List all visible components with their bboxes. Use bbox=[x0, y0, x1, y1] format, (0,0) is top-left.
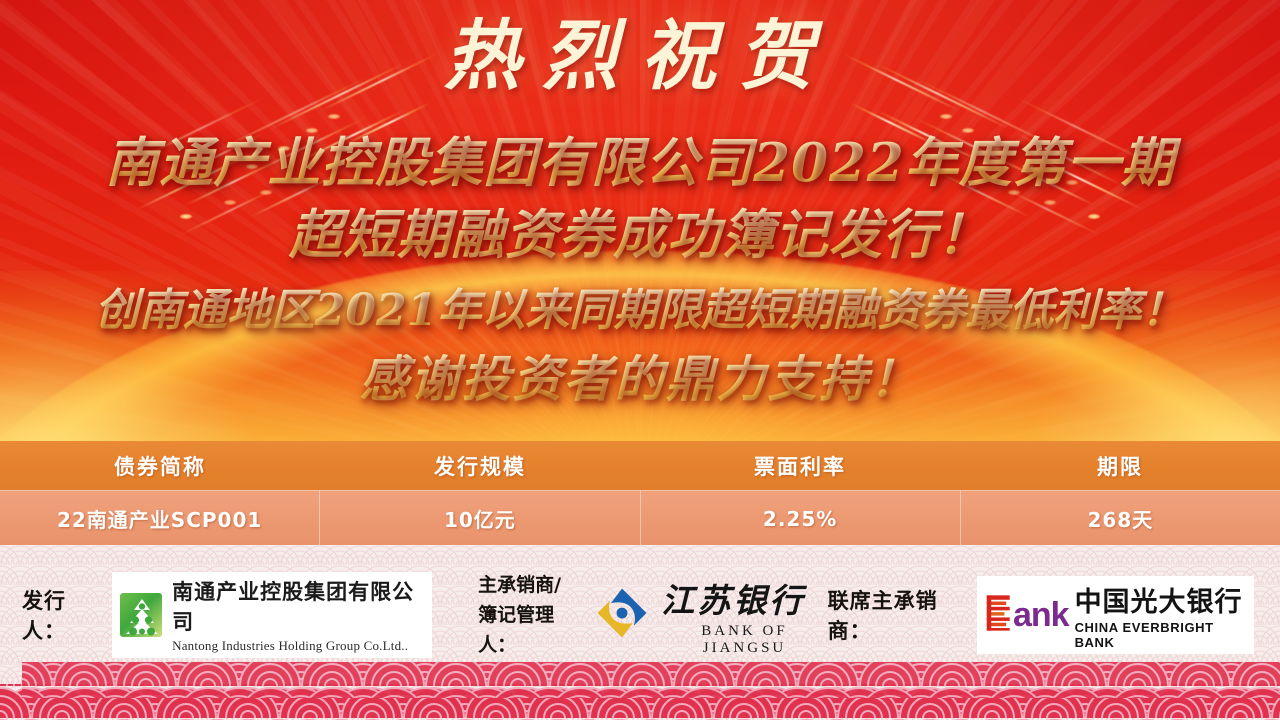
footer-bar: 发行人： bbox=[0, 545, 1280, 720]
table-header-bond-name: 债券简称 bbox=[0, 441, 320, 490]
red-wave-pattern bbox=[0, 654, 1280, 720]
table-header-issue-size: 发行规模 bbox=[320, 441, 640, 490]
issuer-block: 发行人： bbox=[22, 572, 432, 658]
poster-headline: 热烈祝贺 bbox=[0, 16, 1280, 97]
headline-line-1: 南通产业控股集团有限公司2022年度第一期 bbox=[0, 132, 1280, 194]
table-cell-bond-name: 22南通产业SCP001 bbox=[0, 491, 319, 546]
headline-line-4: 感谢投资者的鼎力支持！ bbox=[0, 350, 1280, 408]
issuer-label: 发行人： bbox=[22, 585, 106, 645]
joint-underwriter-block: 联席主承销商： bbox=[828, 576, 1254, 654]
everbright-wordmark: ank bbox=[1013, 598, 1069, 632]
footer-partners-row: 发行人： bbox=[0, 563, 1280, 667]
everbright-name-group: 中国光大银行 CHINA EVERBRIGHT BANK bbox=[1075, 580, 1246, 650]
joint-underwriter-label: 联席主承销商： bbox=[828, 585, 975, 645]
lead-underwriter-label-line1: 主承销商/ bbox=[478, 570, 587, 600]
headline-line-3: 创南通地区2021年以来同期限超短期融资券最低利率！ bbox=[0, 284, 1280, 338]
jiangsu-name-cn: 江苏银行 bbox=[661, 574, 827, 622]
table-header-coupon-rate: 票面利率 bbox=[640, 441, 960, 490]
nantong-tree-logo-icon bbox=[120, 593, 162, 637]
issuer-name-group: 南通产业控股集团有限公司 Nantong Industries Holding … bbox=[172, 576, 424, 654]
everbright-name-cn: 中国光大银行 bbox=[1075, 580, 1246, 619]
everbright-bank-b-icon bbox=[985, 593, 1015, 638]
everbright-name-en: CHINA EVERBRIGHT BANK bbox=[1075, 620, 1246, 650]
table-cell-issue-size: 10亿元 bbox=[319, 491, 639, 546]
jiangsu-logo: 江苏银行 BANK OF JIANGSU bbox=[593, 574, 827, 657]
lead-underwriter-label-line2: 簿记管理人： bbox=[478, 600, 587, 660]
everbright-logo: ank 中国光大银行 CHINA EVERBRIGHT BANK bbox=[977, 576, 1254, 654]
lead-underwriter-block: 主承销商/ 簿记管理人： 江苏银行 BANK OF JIA bbox=[478, 570, 828, 660]
lead-underwriter-label-group: 主承销商/ 簿记管理人： bbox=[478, 570, 587, 660]
table-header-tenor: 期限 bbox=[960, 441, 1280, 490]
table-header-row: 债券简称 发行规模 票面利率 期限 bbox=[0, 441, 1280, 490]
issuer-logo: 南通产业控股集团有限公司 Nantong Industries Holding … bbox=[112, 572, 432, 658]
table-cell-coupon-rate: 2.25% bbox=[640, 491, 960, 546]
table-cell-tenor: 268天 bbox=[960, 491, 1280, 546]
bond-details-table: 债券简称 发行规模 票面利率 期限 22南通产业SCP001 10亿元 2.25… bbox=[0, 441, 1280, 546]
bank-of-jiangsu-swirl-icon bbox=[593, 584, 651, 647]
jiangsu-name-group: 江苏银行 BANK OF JIANGSU bbox=[661, 574, 827, 657]
table-row: 22南通产业SCP001 10亿元 2.25% 268天 bbox=[0, 490, 1280, 546]
poster-subheadlines: 南通产业控股集团有限公司2022年度第一期 超短期融资券成功簿记发行！ 创南通地… bbox=[0, 132, 1280, 408]
issuer-name-en: Nantong Industries Holding Group Co.Ltd.… bbox=[172, 638, 424, 654]
jiangsu-name-en: BANK OF JIANGSU bbox=[661, 623, 827, 657]
issuer-name-cn: 南通产业控股集团有限公司 bbox=[172, 576, 424, 636]
headline-line-2: 超短期融资券成功簿记发行！ bbox=[0, 204, 1280, 266]
celebration-poster: 热烈祝贺 南通产业控股集团有限公司2022年度第一期 超短期融资券成功簿记发行！… bbox=[0, 0, 1280, 720]
